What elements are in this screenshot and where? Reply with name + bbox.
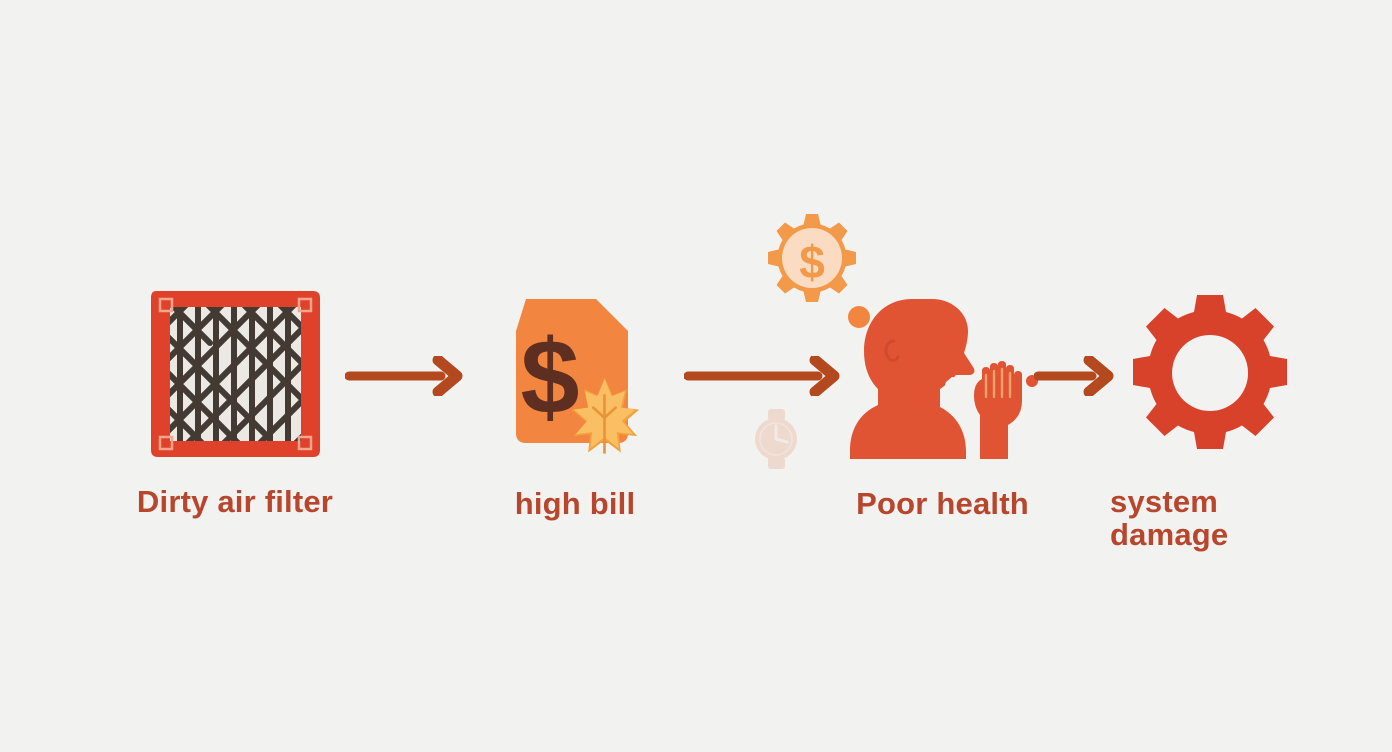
flow-step-label-poor-health: Poor health [856, 487, 1029, 520]
arrow-right-icon [684, 356, 842, 396]
air-filter-icon [148, 285, 323, 463]
flow-step-label-system-damage: system damage [1110, 485, 1310, 552]
wristwatch-icon [742, 408, 810, 470]
hand-shape [974, 361, 1022, 459]
gear-icon [1133, 285, 1288, 463]
flow-step-dirty-air-filter[interactable]: Dirty air filter [90, 285, 380, 518]
arrow-right-icon [345, 356, 465, 396]
flow-step-poor-health[interactable]: Poor health [820, 285, 1065, 520]
flow-step-system-damage[interactable]: system damage [1110, 285, 1310, 552]
arrow-right-icon [1034, 356, 1116, 396]
dollar-glyph: $ [520, 318, 579, 436]
flow-step-label-dirty-air-filter: Dirty air filter [137, 485, 333, 518]
coughing-person-icon [848, 285, 1038, 463]
svg-text:$: $ [520, 318, 579, 436]
flow-step-label-high-bill: high bill [515, 487, 636, 520]
flow-step-high-bill[interactable]: $ high bill [455, 285, 695, 520]
diagram-canvas: Dirty air filter $ [0, 0, 1392, 752]
svg-text:$: $ [799, 236, 825, 288]
price-tag-dollar-icon: $ [488, 285, 663, 463]
